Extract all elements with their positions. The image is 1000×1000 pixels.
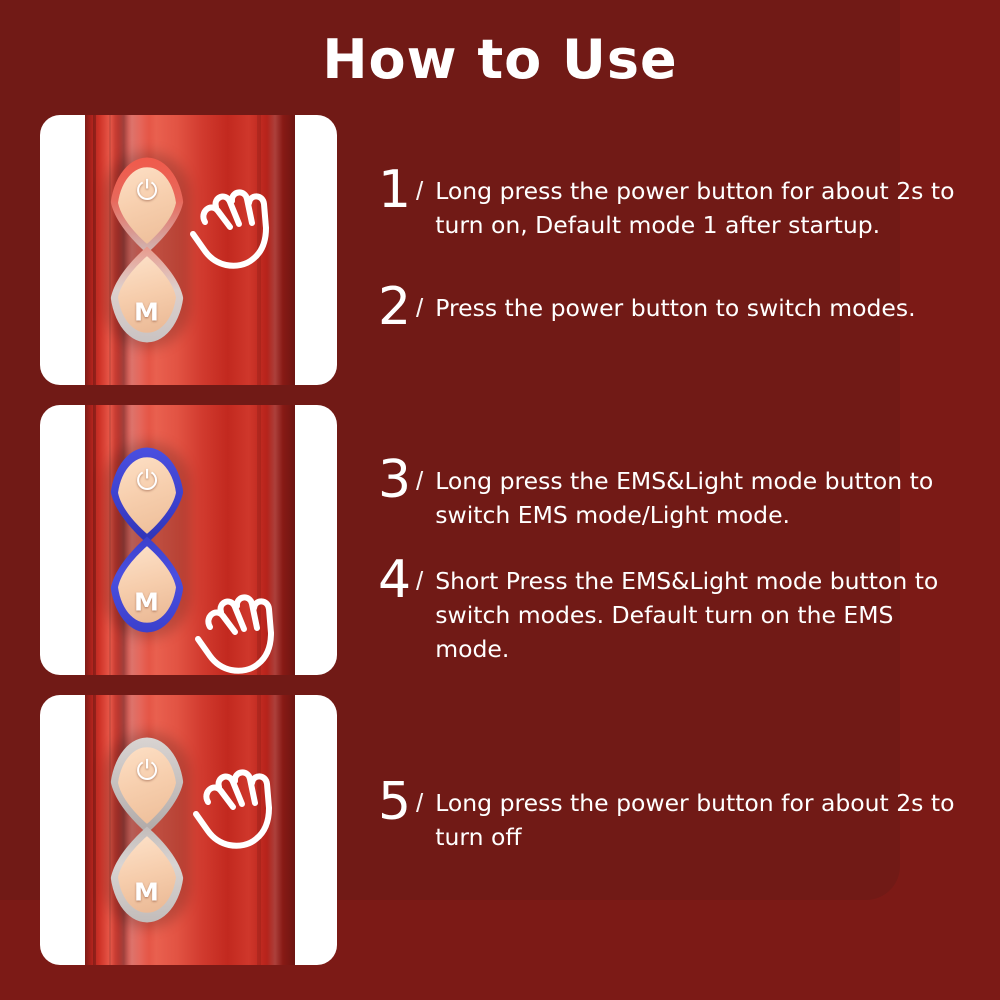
step-separator: / <box>416 780 423 826</box>
step-text: Press the power button to switch modes. <box>435 285 915 325</box>
step-text: Short Press the EMS&Light mode button to… <box>435 558 965 666</box>
step-number: 4 <box>378 558 412 602</box>
device-image-card-2: ⏻ M <box>40 405 337 675</box>
step-number: 3 <box>378 458 412 502</box>
step-separator: / <box>416 558 423 604</box>
device-image-card-1: ⏻ M <box>40 115 337 385</box>
step-text: Long press the EMS&Light mode button to … <box>435 458 965 532</box>
step-separator: / <box>416 458 423 504</box>
step-item-2: 2 / Press the power button to switch mod… <box>378 285 978 331</box>
step-separator: / <box>416 285 423 331</box>
page-title: How to Use <box>0 30 1000 90</box>
step-number: 1 <box>378 168 412 212</box>
step-separator: / <box>416 168 423 214</box>
button-assembly-3: ⏻ M <box>110 738 184 923</box>
how-to-use-page: How to Use ⏻ M <box>0 0 1000 1000</box>
device-image-card-3: ⏻ M <box>40 695 337 965</box>
step-item-4: 4 / Short Press the EMS&Light mode butto… <box>378 558 978 666</box>
step-item-3: 3 / Long press the EMS&Light mode button… <box>378 458 978 532</box>
step-item-1: 1 / Long press the power button for abou… <box>378 168 978 242</box>
step-number: 2 <box>378 285 412 329</box>
step-item-5: 5 / Long press the power button for abou… <box>378 780 978 854</box>
button-assembly-1: ⏻ M <box>110 158 184 343</box>
step-text: Long press the power button for about 2s… <box>435 168 965 242</box>
step-number: 5 <box>378 780 412 824</box>
step-text: Long press the power button for about 2s… <box>435 780 965 854</box>
button-assembly-2: ⏻ M <box>110 448 184 633</box>
